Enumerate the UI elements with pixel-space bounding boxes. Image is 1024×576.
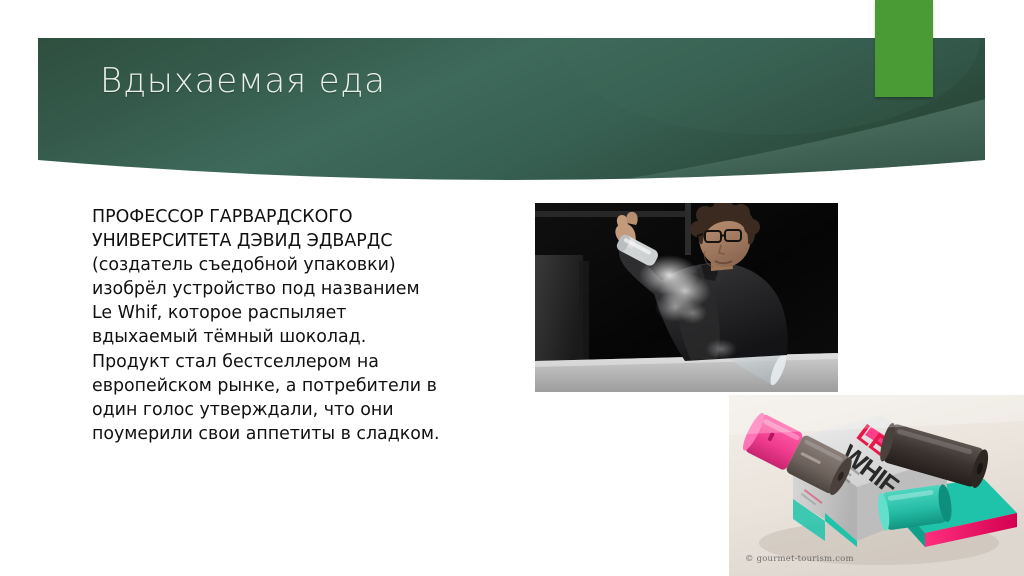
product-photo-watermark: © gourmet-tourism.com xyxy=(745,554,854,564)
slide-header-banner: Вдыхаемая еда xyxy=(0,0,1024,190)
photo-professor-artwork xyxy=(535,203,838,392)
photo-le-whif-product: LE WHIF xyxy=(729,395,1024,576)
photo-product-artwork: LE WHIF xyxy=(729,395,1024,576)
slide-title: Вдыхаемая еда xyxy=(100,61,800,102)
photo-professor-le-whif xyxy=(535,203,838,392)
body-text-block: ПРОФЕССОР ГАРВАРДСКОГО УНИВЕРСИТЕТА ДЭВИ… xyxy=(92,205,440,446)
accent-bar-green xyxy=(875,0,933,97)
slide-canvas: Вдыхаемая еда ПРОФЕССОР ГАРВАРДСКОГО УНИ… xyxy=(0,0,1024,576)
body-paragraph-2: Продукт стал бестселлером на европейском… xyxy=(92,350,440,446)
body-paragraph-1: ПРОФЕССОР ГАРВАРДСКОГО УНИВЕРСИТЕТА ДЭВИ… xyxy=(92,205,440,350)
